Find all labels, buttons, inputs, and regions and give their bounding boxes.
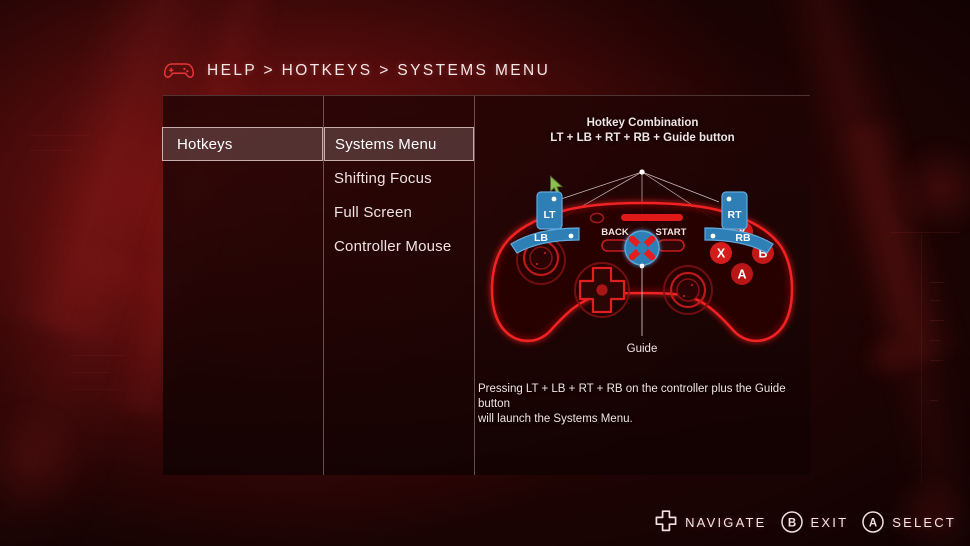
- leader-origin-dot: [639, 169, 644, 174]
- breadcrumb: HELP > HOTKEYS > SYSTEMS MENU: [163, 60, 550, 82]
- nav-label-select: SELECT: [892, 515, 956, 530]
- menu-column-primary: Hotkeys: [163, 96, 323, 475]
- lt-trigger-highlight: LT: [537, 192, 562, 229]
- x-button-label: X: [717, 247, 726, 261]
- guide-button: [625, 231, 659, 265]
- guide-caption: Guide: [627, 343, 658, 355]
- rb-label: RB: [735, 232, 751, 244]
- a-button-icon: A: [861, 510, 885, 534]
- menu-item-controller-mouse[interactable]: Controller Mouse: [324, 229, 474, 263]
- lb-label: LB: [534, 232, 548, 244]
- rt-label: RT: [728, 209, 743, 221]
- breadcrumb-text: HELP > HOTKEYS > SYSTEMS MENU: [207, 62, 550, 80]
- a-button-label: A: [737, 268, 746, 282]
- main-panel: Hotkeys Systems Menu Shifting Focus Full…: [163, 95, 810, 475]
- menu-item-label: Hotkeys: [177, 136, 233, 153]
- start-button-label: START: [656, 227, 687, 238]
- gamepad-icon: [163, 60, 195, 82]
- svg-text:A: A: [869, 518, 877, 530]
- menu-item-label: Controller Mouse: [334, 238, 451, 255]
- menu-item-label: Systems Menu: [335, 136, 437, 153]
- dpad: [575, 263, 629, 317]
- dpad-icon: [654, 510, 678, 534]
- menu-item-systems-menu[interactable]: Systems Menu: [324, 127, 474, 161]
- start-button: [658, 240, 684, 251]
- back-button: [602, 240, 628, 251]
- nav-action-navigate[interactable]: NAVIGATE: [654, 510, 766, 534]
- description-line2: will launch the Systems Menu.: [478, 412, 794, 427]
- right-analog-stick: [664, 266, 712, 314]
- sidebar-item-hotkeys[interactable]: Hotkeys: [162, 127, 323, 161]
- lt-label: LT: [543, 209, 556, 221]
- controller-light-bar: [621, 214, 683, 221]
- bottom-nav-bar: NAVIGATE B EXIT A SELECT: [0, 498, 970, 546]
- controller-diagram: BACK START Y: [475, 140, 810, 366]
- menu-item-shifting-focus[interactable]: Shifting Focus: [324, 161, 474, 195]
- menu-column-secondary: Systems Menu Shifting Focus Full Screen …: [324, 96, 474, 475]
- menu-item-full-screen[interactable]: Full Screen: [324, 195, 474, 229]
- menu-item-label: Shifting Focus: [334, 170, 432, 187]
- nav-action-select[interactable]: A SELECT: [861, 510, 956, 534]
- back-button-label: BACK: [601, 227, 629, 238]
- b-button-icon: B: [780, 510, 804, 534]
- nav-label-navigate: NAVIGATE: [685, 515, 766, 530]
- svg-text:B: B: [787, 518, 795, 530]
- nav-label-exit: EXIT: [811, 515, 849, 530]
- nav-action-exit[interactable]: B EXIT: [780, 510, 849, 534]
- content-column: Hotkey Combination LT + LB + RT + RB + G…: [475, 96, 810, 475]
- description-text: Pressing LT + LB + RT + RB on the contro…: [478, 382, 794, 427]
- rt-trigger-highlight: RT: [722, 192, 747, 229]
- menu-item-label: Full Screen: [334, 204, 412, 221]
- menu-list-secondary: Shifting Focus Full Screen Controller Mo…: [324, 161, 474, 263]
- combo-title-line1: Hotkey Combination: [475, 116, 810, 131]
- description-line1: Pressing LT + LB + RT + RB on the contro…: [478, 382, 794, 412]
